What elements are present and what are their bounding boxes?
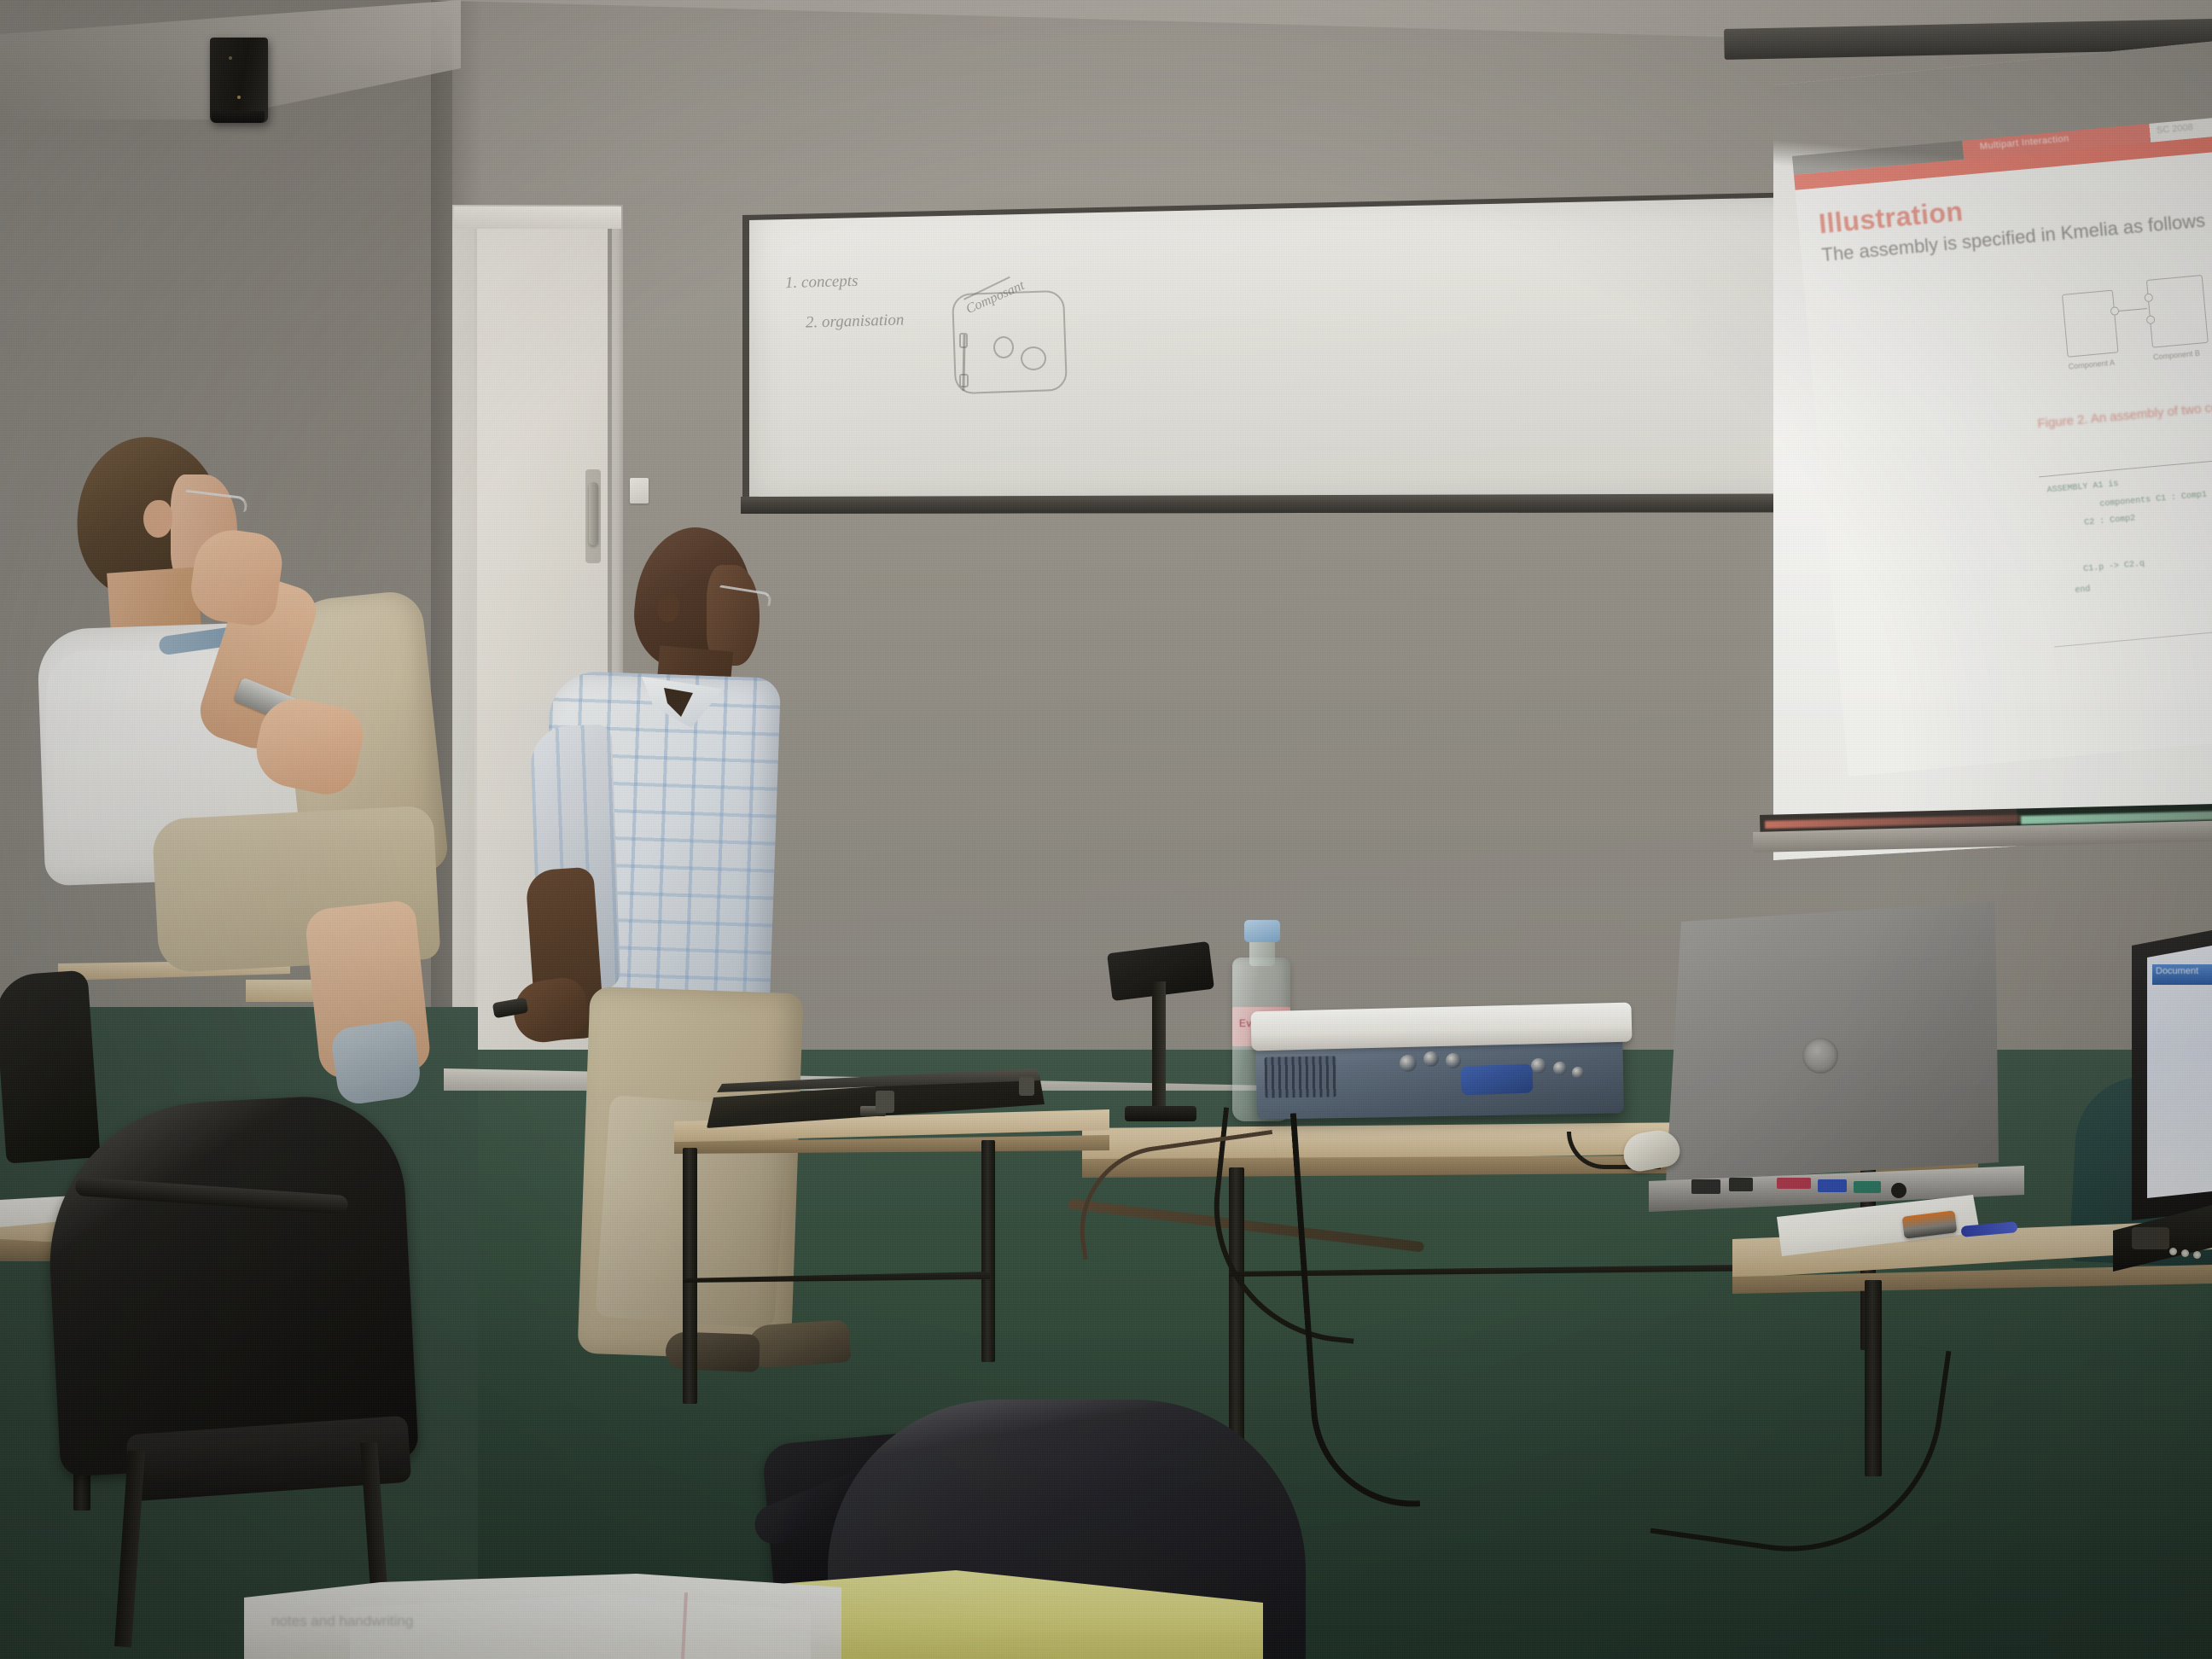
- attendee-sock: [329, 1019, 423, 1107]
- right-laptop-led-2: [2181, 1249, 2189, 1257]
- dell-laptop-port-2[interactable]: [1729, 1178, 1753, 1191]
- dell-logo-icon: [1802, 1038, 1838, 1074]
- seated-attendee: [34, 427, 512, 1024]
- dell-laptop-port-audio[interactable]: [1891, 1183, 1906, 1198]
- speaker-screw: [237, 96, 241, 99]
- whiteboard-diagram-port-bottom: [959, 374, 969, 387]
- whiteboard-pen-tray: [741, 493, 1925, 514]
- projection-screen: Multipart Interaction SC 2008 Illustrati…: [1773, 41, 2212, 860]
- whiteboard-diagram-port-top: [959, 333, 968, 348]
- projector-port-1[interactable]: [1400, 1055, 1417, 1072]
- projector-port-2[interactable]: [1423, 1051, 1439, 1067]
- centre-desk-leg-right: [981, 1140, 995, 1362]
- whiteboard-diagram-node-a: [993, 336, 1014, 358]
- projector-port-5[interactable]: [1553, 1062, 1567, 1075]
- right-laptop-touchpad[interactable]: [2132, 1227, 2169, 1249]
- slide-figure-caption: Figure 2. An assembly of two components: [2037, 395, 2212, 431]
- projector-port-4[interactable]: [1531, 1058, 1546, 1074]
- slide-code-line-4: C1.p -> C2.q: [2083, 560, 2145, 574]
- foreground-paper-text: notes and handwriting: [271, 1613, 664, 1630]
- slide-diagram-box-left: [2062, 290, 2118, 358]
- slide-diagram-port-1: [2110, 306, 2120, 316]
- dell-laptop-port-parallel[interactable]: [1777, 1178, 1811, 1189]
- light-switch[interactable]: [630, 478, 649, 504]
- slide-diagram-box-right: [2146, 275, 2209, 348]
- projected-slide: Multipart Interaction SC 2008 Illustrati…: [1792, 118, 2212, 777]
- water-bottle-cap[interactable]: [1244, 920, 1280, 942]
- standing-presenter: [529, 512, 922, 1468]
- centre-desk-leg-left: [683, 1148, 697, 1404]
- slide-diagram-caption-left: Component A: [2068, 358, 2115, 371]
- slide-code-line-5: end: [2075, 585, 2091, 596]
- projector-port-3[interactable]: [1446, 1053, 1461, 1068]
- right-laptop-led-3: [2193, 1251, 2201, 1259]
- video-projector-vent: [1265, 1056, 1337, 1097]
- whiteboard: [746, 195, 1917, 507]
- dell-laptop-port-1[interactable]: [1691, 1179, 1720, 1194]
- projector-blue-connector[interactable]: [1460, 1064, 1533, 1096]
- laptop-corner-guard-2: [1019, 1077, 1034, 1096]
- slide-diagram-connector: [2116, 308, 2147, 312]
- right-desk-leg: [1865, 1280, 1882, 1476]
- slide-header-right: SC 2008: [2157, 120, 2212, 136]
- slide-code-line-2: components C1 : Comp1: [2099, 491, 2208, 509]
- presenter-shoe-left: [665, 1331, 760, 1372]
- slide-code-rule-top: [2039, 457, 2212, 477]
- equipment-stand-pole: [1152, 981, 1166, 1118]
- slide-code-line-3: C2 : Comp2: [2084, 514, 2136, 527]
- presenter-ear: [657, 593, 679, 622]
- presenter-shoe-right: [746, 1319, 851, 1369]
- slide-code-line-1: ASSEMBLY A1 is: [2046, 480, 2119, 496]
- whiteboard-diagram-node-b: [1021, 346, 1046, 370]
- equipment-stand-base: [1125, 1106, 1196, 1121]
- slide-code-rule-bottom: [2054, 627, 2212, 647]
- wall-speaker: [210, 38, 268, 123]
- dell-laptop-port-serial[interactable]: [1854, 1181, 1881, 1193]
- attendee-ear: [143, 500, 172, 538]
- speaker-led: [229, 56, 232, 60]
- slide-body: Illustration The assembly is specified i…: [1796, 152, 2212, 777]
- projector-port-6[interactable]: [1572, 1067, 1584, 1079]
- classroom-photo: 1. concepts 2. organisation Composant Mu…: [0, 0, 2212, 1659]
- speaker-bracket: [212, 111, 265, 123]
- dell-laptop-port-vga[interactable]: [1818, 1179, 1847, 1192]
- laptop-corner-guard-1: [876, 1091, 894, 1113]
- right-laptop-led-1: [2169, 1248, 2177, 1255]
- slide-diagram-caption-right: Component B: [2153, 349, 2201, 362]
- door-lintel: [454, 207, 621, 229]
- right-laptop-window-title: Document: [2156, 966, 2210, 976]
